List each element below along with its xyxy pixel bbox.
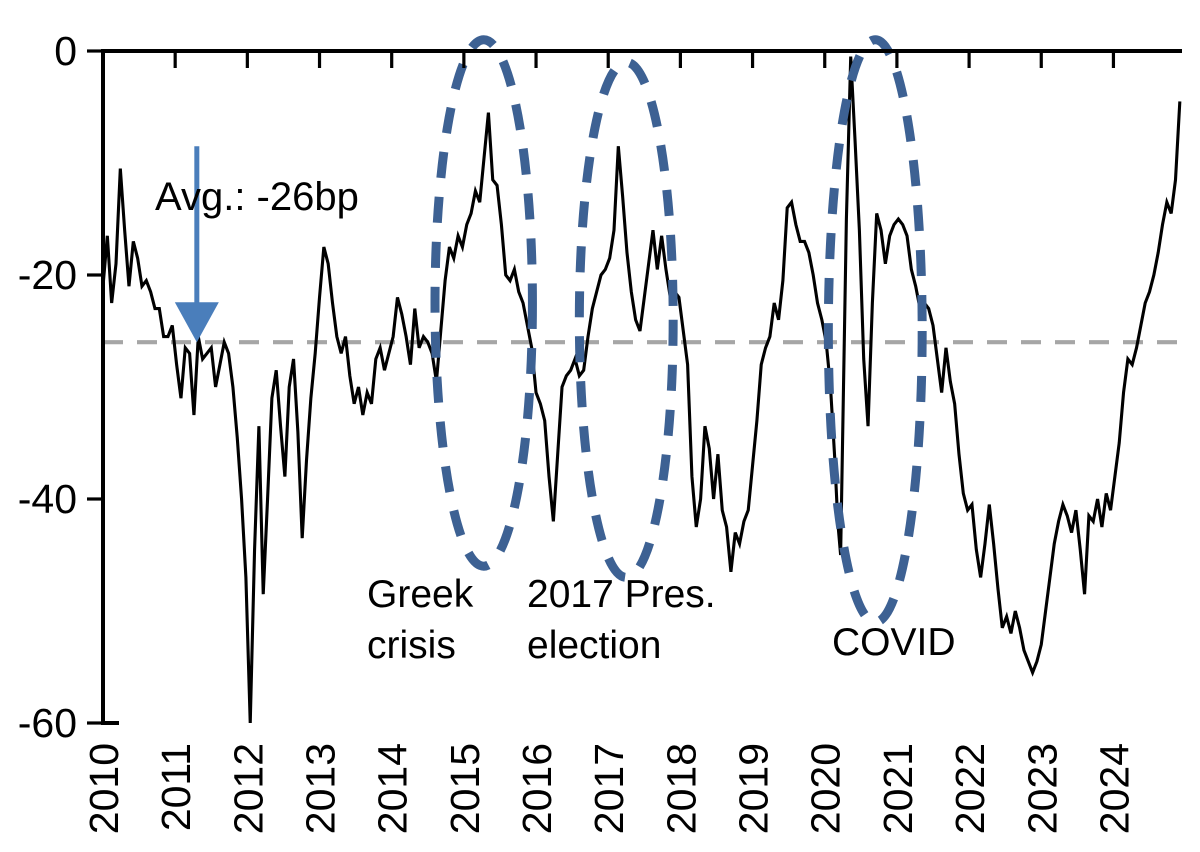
x-tick-label-2015: 2015 [442,743,488,834]
average-annotation-label: Avg.: -26bp [155,175,359,219]
y-tick-label-0: 0 [54,28,77,74]
x-tick-label-2016: 2016 [514,743,560,834]
x-tick-label-2012: 2012 [225,743,271,834]
chart-background [0,0,1200,852]
x-tick-label-2010: 2010 [81,743,127,834]
x-tick-label-2018: 2018 [658,743,704,834]
x-tick-label-2011: 2011 [153,743,199,831]
x-tick-label-2023: 2023 [1019,743,1065,834]
x-axis-tick-labels: 2010201120122013201420152016201720182019… [81,743,1137,834]
chart-container: 0-20-40-60 20102011201220132014201520162… [0,0,1200,852]
y-tick-label--40: -40 [18,476,77,522]
election-label-line1: 2017 Pres. [527,573,716,616]
x-tick-label-2021: 2021 [875,743,921,834]
y-tick-label--60: -60 [18,700,77,746]
x-tick-label-2017: 2017 [586,743,632,834]
x-tick-label-2014: 2014 [370,743,416,834]
x-tick-label-2020: 2020 [803,743,849,834]
covid-label: COVID [832,621,956,664]
election-label-line2: election [527,624,661,667]
y-tick-label--20: -20 [18,252,77,298]
greek-crisis-label-line1: Greek [367,573,474,616]
greek-crisis-label-line2: crisis [367,624,456,667]
x-tick-label-2019: 2019 [731,743,777,834]
x-tick-label-2013: 2013 [298,743,344,834]
x-tick-label-2024: 2024 [1091,743,1137,834]
line-chart: 0-20-40-60 20102011201220132014201520162… [0,0,1200,852]
x-tick-label-2022: 2022 [947,743,993,834]
